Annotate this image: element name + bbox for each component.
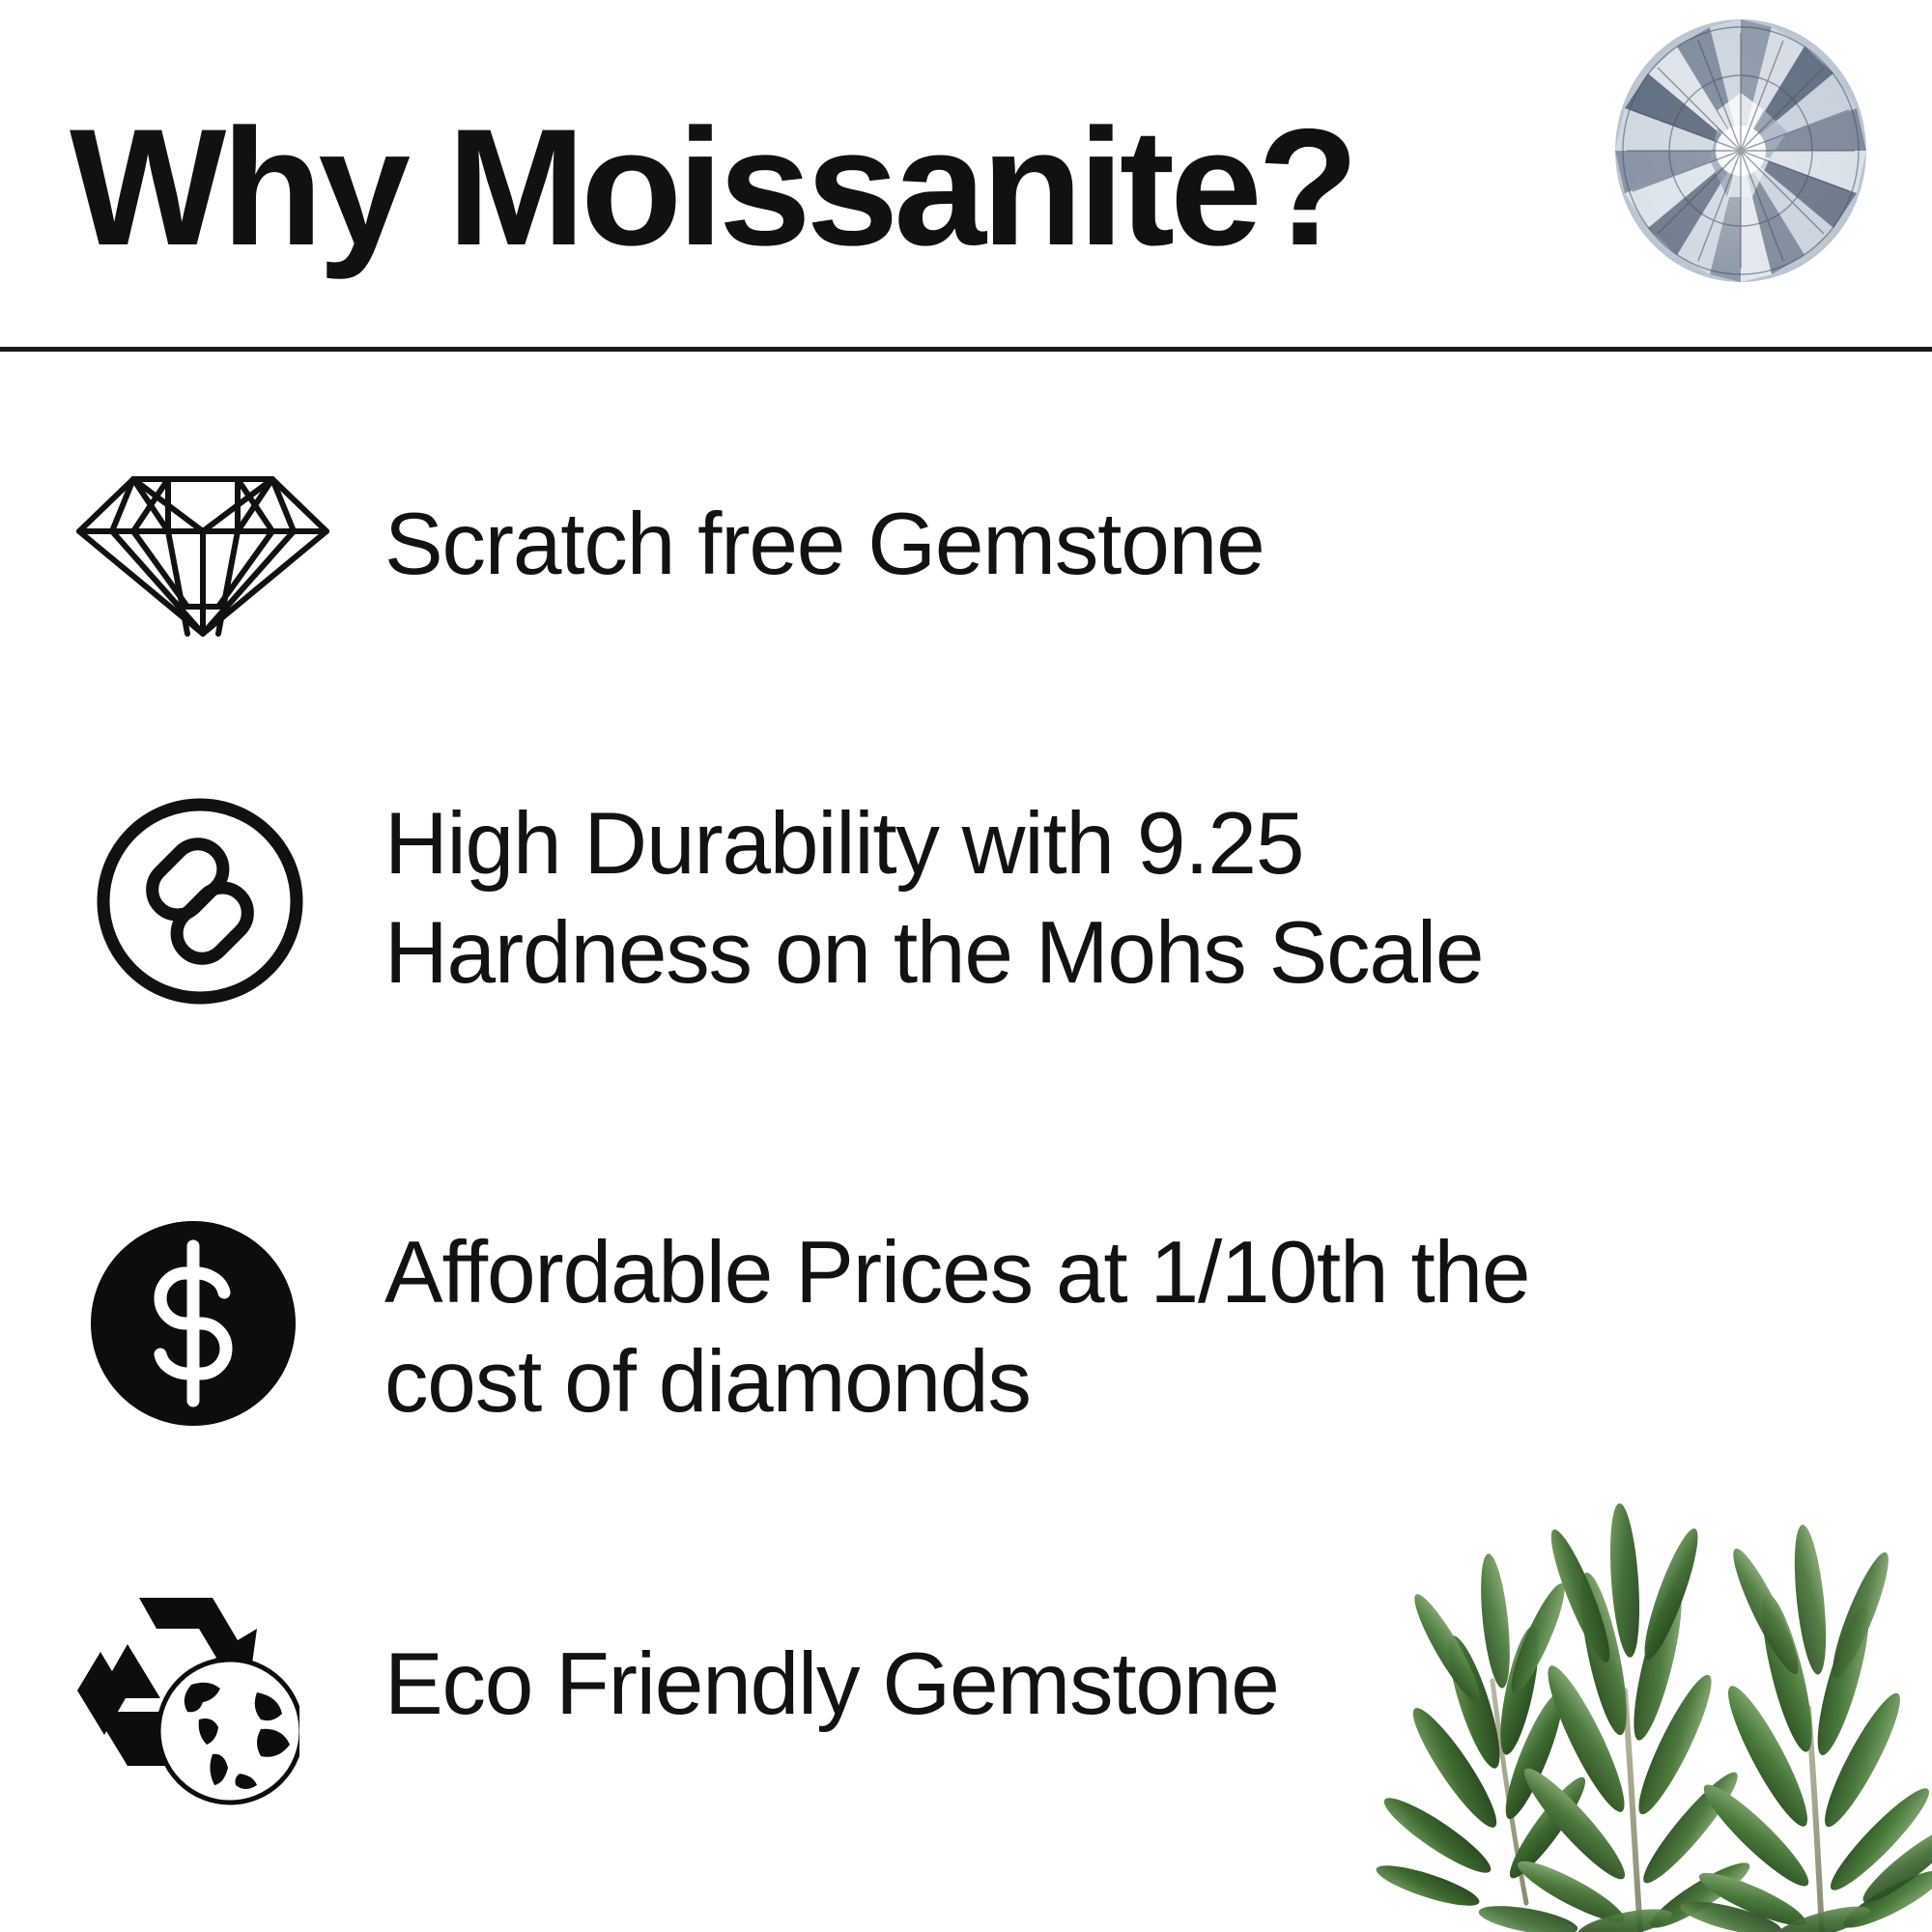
feature-label-price: Affordable Prices at 1/10th the cost of … [384,1219,1529,1437]
dollar-coin-icon [89,1219,298,1428]
feature-row-scratch: Scratch free Gemstone [0,454,1932,657]
chain-link-circle-icon [93,794,307,1009]
feature-line: Affordable Prices at 1/10th the [384,1219,1529,1328]
feature-label-eco: Eco Friendly Gemstone [384,1631,1279,1740]
feature-line: Eco Friendly Gemstone [384,1631,1279,1740]
feature-row-durability: High Durability with 9.25 Hardness on th… [0,773,1932,1053]
feature-label-durability: High Durability with 9.25 Hardness on th… [384,790,1483,1009]
feature-line: cost of diamonds [384,1328,1529,1437]
feature-label-scratch: Scratch free Gemstone [384,491,1264,600]
diamond-photo-icon [1563,17,1918,284]
infographic-canvas: Why Moissanite? [0,0,1932,1932]
feature-line: Hardness on the Mohs Scale [384,899,1483,1009]
header: Why Moissanite? [0,0,1932,350]
feature-row-eco: Eco Friendly Gemstone [0,1575,1932,1826]
recycle-globe-icon [68,1584,299,1808]
diamond-outline-icon [73,471,332,640]
feature-line: High Durability with 9.25 [384,790,1483,899]
feature-row-price: Affordable Prices at 1/10th the cost of … [0,1198,1932,1478]
feature-line: Scratch free Gemstone [384,491,1264,600]
page-title: Why Moissanite? [70,104,1354,270]
header-divider [0,347,1932,352]
